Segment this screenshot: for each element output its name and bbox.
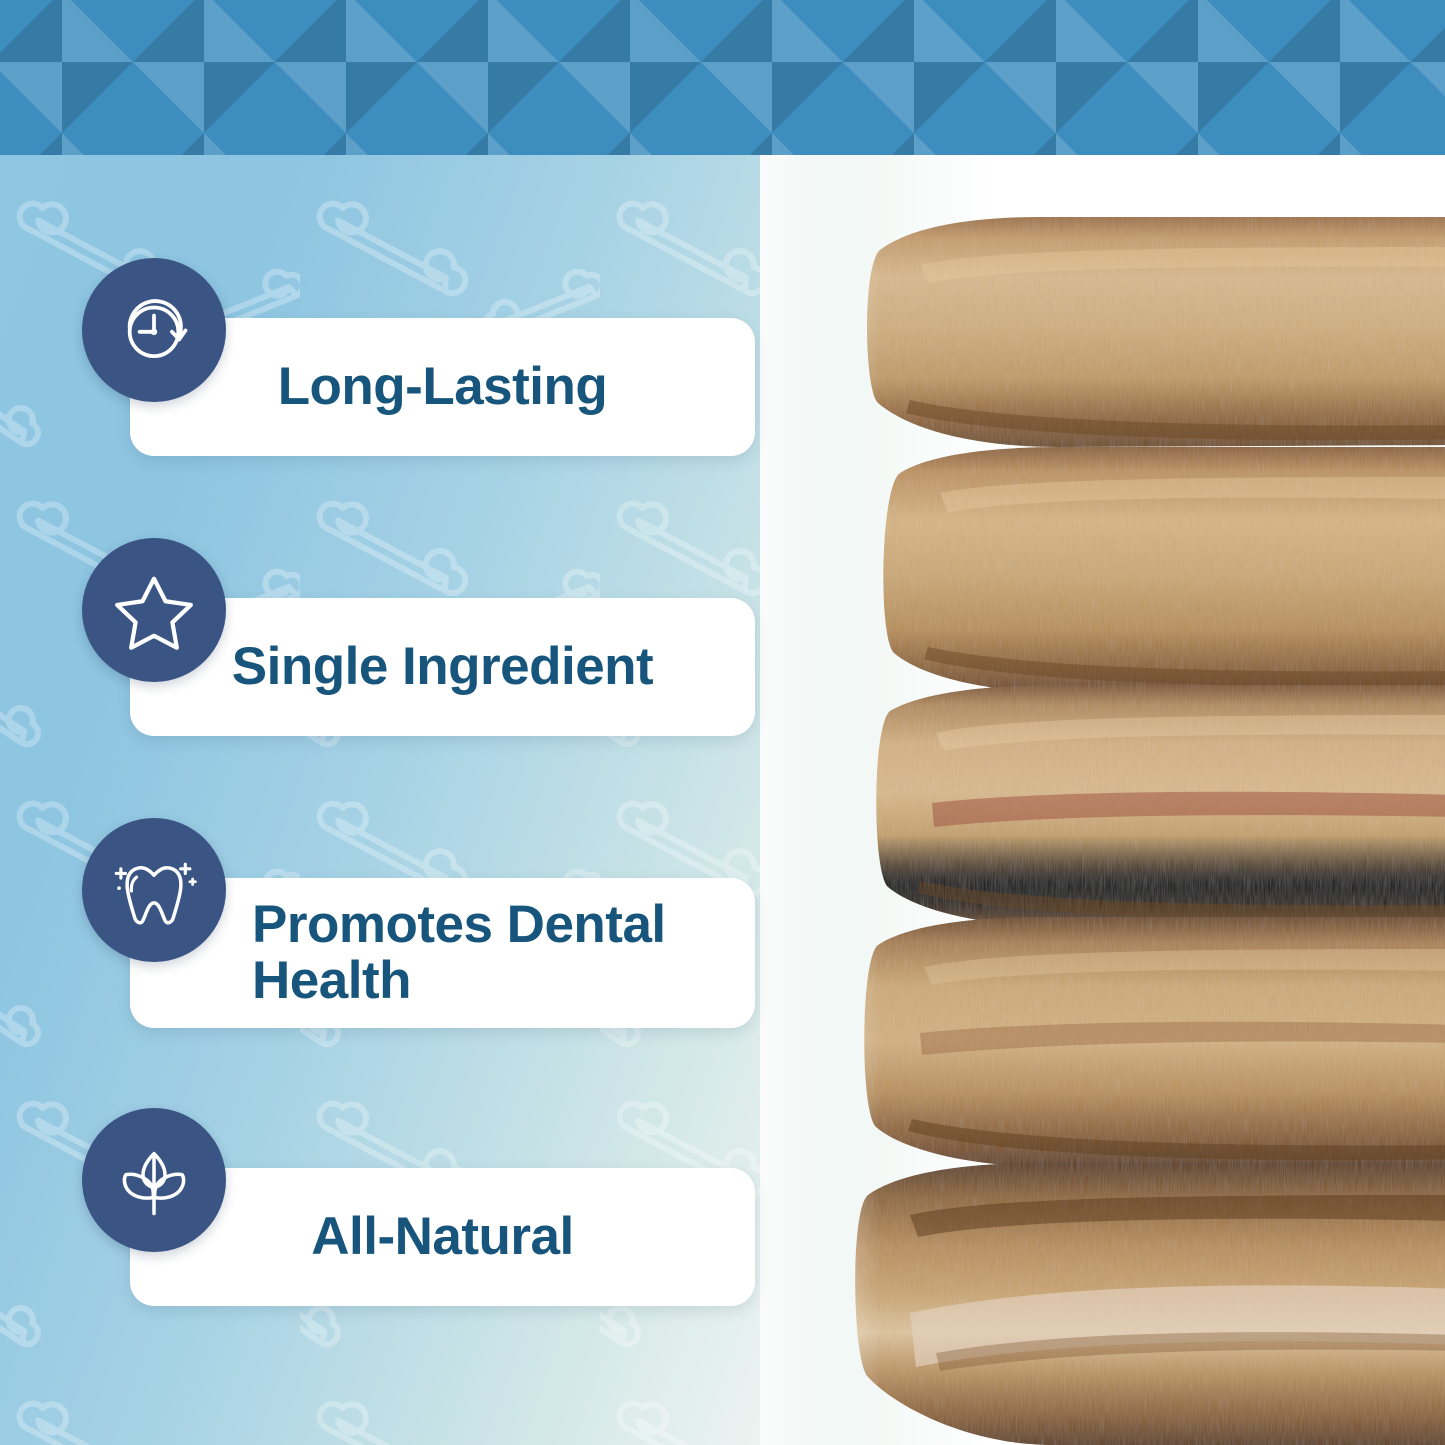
clock-refresh-icon: [109, 285, 199, 375]
feature-badge: [82, 818, 226, 962]
tooth-sparkle-icon: [108, 844, 200, 936]
feature-label: Long-Lasting: [130, 359, 755, 415]
feature-list: Long-Lasting Single Ingredient: [0, 0, 800, 1445]
star-icon: [108, 564, 200, 656]
product-photo-bully-sticks: [760, 155, 1445, 1445]
feature-badge: [82, 538, 226, 682]
feature-label: All-Natural: [130, 1209, 755, 1265]
feature-badge: [82, 1108, 226, 1252]
feature-label: Single Ingredient: [130, 639, 755, 695]
feature-badge: [82, 258, 226, 402]
feature-label: Promotes Dental Health: [130, 897, 755, 1009]
product-infographic: Long-Lasting Single Ingredient: [0, 0, 1445, 1445]
leaf-sprout-icon: [110, 1136, 198, 1224]
